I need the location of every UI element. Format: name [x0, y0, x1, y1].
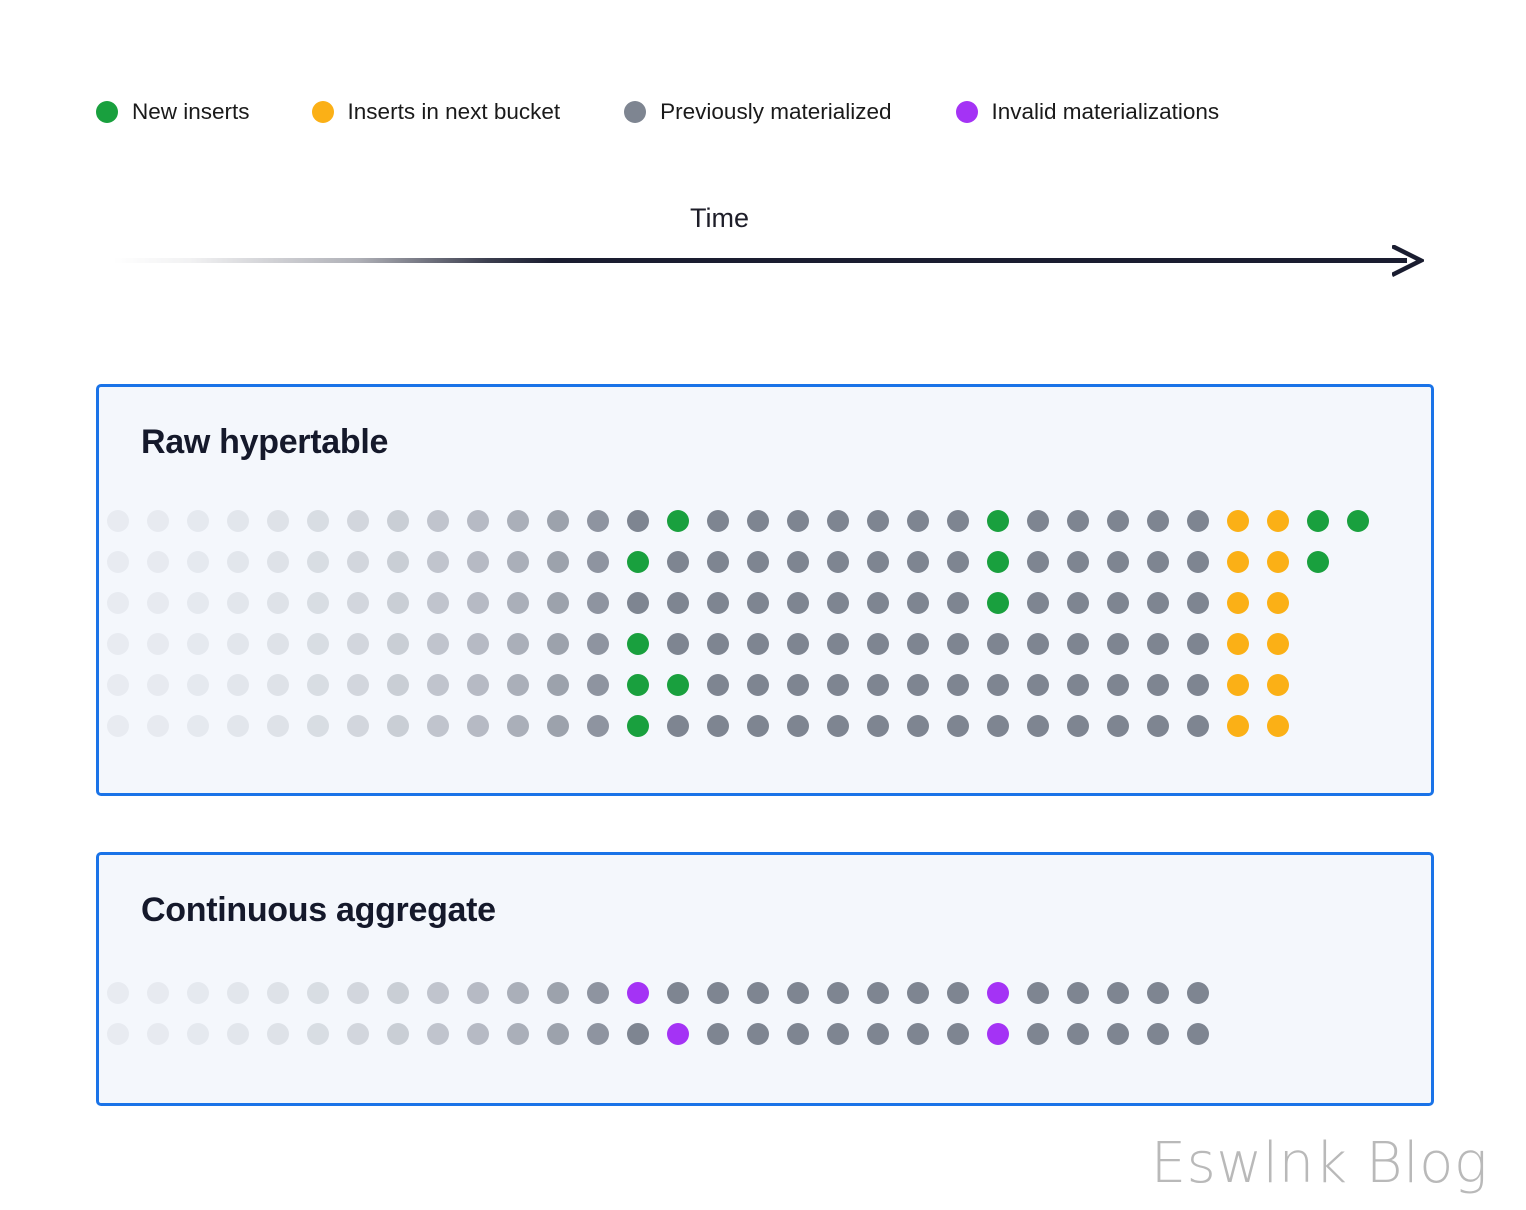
panel-title-continuous-aggregate: Continuous aggregate: [141, 893, 496, 927]
dot-materialized: [267, 592, 289, 614]
dot-materialized: [1027, 1023, 1049, 1045]
dot-materialized: [147, 510, 169, 532]
dot-materialized: [1107, 592, 1129, 614]
dot-materialized: [187, 633, 209, 655]
dot-materialized: [507, 982, 529, 1004]
dot-materialized: [827, 592, 849, 614]
dot-materialized: [467, 982, 489, 1004]
dot-materialized: [547, 551, 569, 573]
dot-materialized: [707, 551, 729, 573]
dot-materialized: [107, 592, 129, 614]
dot-materialized: [467, 674, 489, 696]
dot-materialized: [1187, 592, 1209, 614]
dot-materialized: [1027, 510, 1049, 532]
dot-materialized: [667, 633, 689, 655]
dot-materialized: [947, 510, 969, 532]
dot-materialized: [347, 1023, 369, 1045]
dot-materialized: [267, 633, 289, 655]
dot-materialized: [827, 715, 849, 737]
dot-materialized: [347, 982, 369, 1004]
dot-materialized: [1067, 982, 1089, 1004]
dot-materialized: [547, 674, 569, 696]
circle-icon: [312, 101, 334, 123]
dot-materialized: [227, 551, 249, 573]
dot-materialized: [1147, 982, 1169, 1004]
dot-materialized: [107, 674, 129, 696]
dot-materialized: [507, 551, 529, 573]
dot-next-bucket: [1267, 551, 1289, 573]
dot-materialized: [307, 633, 329, 655]
dot-materialized: [187, 674, 209, 696]
dot-materialized: [1147, 1023, 1169, 1045]
legend-label-1: Inserts in next bucket: [348, 101, 561, 124]
dot-materialized: [147, 633, 169, 655]
dot-materialized: [227, 982, 249, 1004]
dot-materialized: [267, 551, 289, 573]
dot-materialized: [747, 633, 769, 655]
dot-materialized: [547, 510, 569, 532]
dot-materialized: [947, 551, 969, 573]
dot-materialized: [427, 715, 449, 737]
dot-materialized: [427, 551, 449, 573]
dot-materialized: [267, 715, 289, 737]
dot-materialized: [387, 633, 409, 655]
dot-materialized: [827, 633, 849, 655]
dot-materialized: [1187, 982, 1209, 1004]
dot-materialized: [1107, 1023, 1129, 1045]
dot-materialized: [267, 982, 289, 1004]
legend-item-0: New inserts: [96, 92, 250, 132]
dot-materialized: [387, 551, 409, 573]
dot-materialized: [187, 715, 209, 737]
dot-materialized: [787, 982, 809, 1004]
dot-materialized: [707, 592, 729, 614]
dot-materialized: [907, 592, 929, 614]
dot-materialized: [587, 592, 609, 614]
dot-materialized: [947, 715, 969, 737]
dot-materialized: [187, 1023, 209, 1045]
dot-materialized: [787, 633, 809, 655]
dot-materialized: [587, 982, 609, 1004]
dot-materialized: [507, 715, 529, 737]
dot-next-bucket: [1267, 510, 1289, 532]
legend-label-3: Invalid materializations: [992, 101, 1220, 124]
dot-materialized: [227, 633, 249, 655]
dot-materialized: [1187, 510, 1209, 532]
dot-next-bucket: [1267, 592, 1289, 614]
dot-materialized: [987, 715, 1009, 737]
dot-materialized: [827, 551, 849, 573]
dot-new-inserts: [987, 510, 1009, 532]
time-axis: Time: [112, 205, 1432, 275]
dot-materialized: [987, 674, 1009, 696]
dot-materialized: [667, 982, 689, 1004]
dot-materialized: [1107, 633, 1129, 655]
dot-materialized: [707, 674, 729, 696]
dot-materialized: [907, 1023, 929, 1045]
dot-materialized: [387, 510, 409, 532]
dot-materialized: [707, 982, 729, 1004]
dot-next-bucket: [1227, 551, 1249, 573]
dot-materialized: [147, 674, 169, 696]
dot-materialized: [867, 510, 889, 532]
dot-invalid: [627, 982, 649, 1004]
dot-materialized: [107, 1023, 129, 1045]
dot-materialized: [227, 715, 249, 737]
dot-next-bucket: [1227, 674, 1249, 696]
dot-materialized: [107, 510, 129, 532]
dot-materialized: [307, 551, 329, 573]
dot-materialized: [867, 715, 889, 737]
watermark: Eswlnk Blog: [1151, 1136, 1488, 1192]
dot-next-bucket: [1227, 715, 1249, 737]
dot-materialized: [187, 510, 209, 532]
dot-materialized: [947, 674, 969, 696]
dot-materialized: [507, 1023, 529, 1045]
dot-materialized: [1147, 510, 1169, 532]
dot-materialized: [787, 1023, 809, 1045]
dot-new-inserts: [627, 551, 649, 573]
dot-materialized: [347, 551, 369, 573]
dot-materialized: [427, 1023, 449, 1045]
panel-continuous-aggregate: Continuous aggregate: [96, 852, 1434, 1106]
dot-next-bucket: [1267, 674, 1289, 696]
dot-new-inserts: [667, 674, 689, 696]
dot-materialized: [867, 982, 889, 1004]
dot-materialized: [747, 715, 769, 737]
dot-materialized: [147, 982, 169, 1004]
dot-materialized: [147, 551, 169, 573]
dot-materialized: [627, 1023, 649, 1045]
dot-materialized: [747, 674, 769, 696]
dot-materialized: [547, 633, 569, 655]
legend-item-2: Previously materialized: [624, 92, 891, 132]
dot-materialized: [307, 715, 329, 737]
dot-materialized: [387, 592, 409, 614]
dot-materialized: [1187, 1023, 1209, 1045]
dot-materialized: [187, 982, 209, 1004]
dot-materialized: [787, 551, 809, 573]
dot-materialized: [587, 715, 609, 737]
dot-materialized: [947, 592, 969, 614]
dot-materialized: [107, 715, 129, 737]
dot-materialized: [747, 982, 769, 1004]
dot-materialized: [547, 715, 569, 737]
legend: New insertsInserts in next bucketPreviou…: [96, 92, 1219, 132]
dot-materialized: [1027, 592, 1049, 614]
dot-new-inserts: [627, 633, 649, 655]
dot-materialized: [827, 1023, 849, 1045]
dot-materialized: [627, 510, 649, 532]
dot-materialized: [947, 633, 969, 655]
dot-materialized: [827, 510, 849, 532]
dot-materialized: [1187, 633, 1209, 655]
panel-title-raw-hypertable: Raw hypertable: [141, 425, 388, 459]
dot-next-bucket: [1227, 510, 1249, 532]
dot-materialized: [1027, 982, 1049, 1004]
dot-materialized: [107, 551, 129, 573]
dot-materialized: [307, 510, 329, 532]
dot-new-inserts: [987, 551, 1009, 573]
dot-materialized: [907, 633, 929, 655]
dot-materialized: [1067, 715, 1089, 737]
dot-materialized: [547, 1023, 569, 1045]
dot-materialized: [907, 551, 929, 573]
dot-materialized: [507, 510, 529, 532]
dot-materialized: [867, 592, 889, 614]
dot-materialized: [907, 510, 929, 532]
dot-materialized: [467, 551, 489, 573]
dot-materialized: [1107, 674, 1129, 696]
dot-materialized: [347, 633, 369, 655]
dot-materialized: [1187, 674, 1209, 696]
dot-materialized: [1187, 715, 1209, 737]
dot-materialized: [467, 510, 489, 532]
dot-new-inserts: [627, 674, 649, 696]
dot-materialized: [227, 592, 249, 614]
dot-materialized: [1067, 551, 1089, 573]
dot-materialized: [987, 633, 1009, 655]
dot-new-inserts: [1347, 510, 1369, 532]
dot-materialized: [267, 510, 289, 532]
dot-materialized: [107, 982, 129, 1004]
dot-materialized: [827, 674, 849, 696]
dot-next-bucket: [1267, 633, 1289, 655]
dot-materialized: [707, 1023, 729, 1045]
dot-materialized: [1027, 674, 1049, 696]
legend-label-0: New inserts: [132, 101, 250, 124]
dot-materialized: [427, 982, 449, 1004]
dot-materialized: [347, 715, 369, 737]
dot-materialized: [1147, 674, 1169, 696]
circle-icon: [624, 101, 646, 123]
dot-materialized: [707, 633, 729, 655]
dot-materialized: [1107, 982, 1129, 1004]
legend-item-3: Invalid materializations: [956, 92, 1220, 132]
dot-materialized: [1067, 674, 1089, 696]
dot-materialized: [627, 592, 649, 614]
dot-materialized: [1067, 510, 1089, 532]
dot-materialized: [947, 982, 969, 1004]
dot-materialized: [1187, 551, 1209, 573]
dot-materialized: [867, 674, 889, 696]
dot-invalid: [667, 1023, 689, 1045]
dot-materialized: [707, 510, 729, 532]
dot-materialized: [587, 510, 609, 532]
dot-new-inserts: [667, 510, 689, 532]
dot-materialized: [1147, 551, 1169, 573]
dot-materialized: [827, 982, 849, 1004]
circle-icon: [956, 101, 978, 123]
dot-materialized: [227, 1023, 249, 1045]
dot-materialized: [587, 551, 609, 573]
dot-materialized: [147, 1023, 169, 1045]
dot-materialized: [427, 674, 449, 696]
dot-materialized: [787, 674, 809, 696]
dot-materialized: [267, 1023, 289, 1045]
dot-materialized: [187, 592, 209, 614]
dot-materialized: [747, 510, 769, 532]
dot-materialized: [1147, 715, 1169, 737]
dot-materialized: [1067, 592, 1089, 614]
dot-materialized: [787, 592, 809, 614]
dot-materialized: [467, 1023, 489, 1045]
legend-label-2: Previously materialized: [660, 101, 891, 124]
dot-materialized: [267, 674, 289, 696]
dot-materialized: [547, 592, 569, 614]
dot-next-bucket: [1227, 633, 1249, 655]
dot-materialized: [747, 1023, 769, 1045]
dot-materialized: [1067, 1023, 1089, 1045]
dot-materialized: [387, 674, 409, 696]
dot-materialized: [907, 674, 929, 696]
dot-materialized: [387, 982, 409, 1004]
dot-materialized: [907, 982, 929, 1004]
dot-new-inserts: [627, 715, 649, 737]
dot-materialized: [547, 982, 569, 1004]
dot-materialized: [467, 633, 489, 655]
dot-materialized: [787, 510, 809, 532]
dot-materialized: [227, 674, 249, 696]
dot-materialized: [347, 510, 369, 532]
dot-materialized: [427, 633, 449, 655]
dot-materialized: [787, 715, 809, 737]
dot-materialized: [587, 1023, 609, 1045]
dot-materialized: [587, 674, 609, 696]
dot-invalid: [987, 982, 1009, 1004]
arrow-right-icon: [1392, 245, 1424, 277]
dot-materialized: [667, 592, 689, 614]
dot-materialized: [1107, 715, 1129, 737]
dot-materialized: [667, 551, 689, 573]
dot-materialized: [747, 592, 769, 614]
dot-materialized: [467, 592, 489, 614]
dot-materialized: [147, 715, 169, 737]
dot-materialized: [427, 510, 449, 532]
dot-materialized: [907, 715, 929, 737]
dot-materialized: [387, 1023, 409, 1045]
dot-materialized: [307, 1023, 329, 1045]
dot-materialized: [307, 674, 329, 696]
dot-new-inserts: [1307, 551, 1329, 573]
dot-new-inserts: [1307, 510, 1329, 532]
dot-materialized: [707, 715, 729, 737]
circle-icon: [96, 101, 118, 123]
dot-materialized: [1067, 633, 1089, 655]
time-axis-label: Time: [112, 205, 1327, 232]
dot-next-bucket: [1227, 592, 1249, 614]
dot-materialized: [947, 1023, 969, 1045]
dot-materialized: [387, 715, 409, 737]
dot-materialized: [307, 592, 329, 614]
dot-materialized: [227, 510, 249, 532]
dot-materialized: [867, 1023, 889, 1045]
dot-materialized: [1107, 551, 1129, 573]
panel-raw-hypertable: Raw hypertable: [96, 384, 1434, 796]
dot-materialized: [507, 674, 529, 696]
dot-materialized: [347, 674, 369, 696]
time-axis-line: [112, 258, 1407, 263]
dot-materialized: [667, 715, 689, 737]
dot-materialized: [107, 633, 129, 655]
dot-materialized: [1107, 510, 1129, 532]
dot-materialized: [1027, 715, 1049, 737]
legend-item-1: Inserts in next bucket: [312, 92, 561, 132]
dot-materialized: [507, 592, 529, 614]
dot-materialized: [867, 633, 889, 655]
dot-invalid: [987, 1023, 1009, 1045]
dot-materialized: [1027, 551, 1049, 573]
dot-next-bucket: [1267, 715, 1289, 737]
dot-materialized: [347, 592, 369, 614]
dot-materialized: [427, 592, 449, 614]
dot-materialized: [147, 592, 169, 614]
dot-materialized: [187, 551, 209, 573]
dot-materialized: [747, 551, 769, 573]
dot-new-inserts: [987, 592, 1009, 614]
dot-materialized: [867, 551, 889, 573]
dot-materialized: [507, 633, 529, 655]
dot-materialized: [1147, 592, 1169, 614]
dot-materialized: [307, 982, 329, 1004]
dot-materialized: [1147, 633, 1169, 655]
dot-materialized: [587, 633, 609, 655]
dot-materialized: [1027, 633, 1049, 655]
dot-materialized: [467, 715, 489, 737]
